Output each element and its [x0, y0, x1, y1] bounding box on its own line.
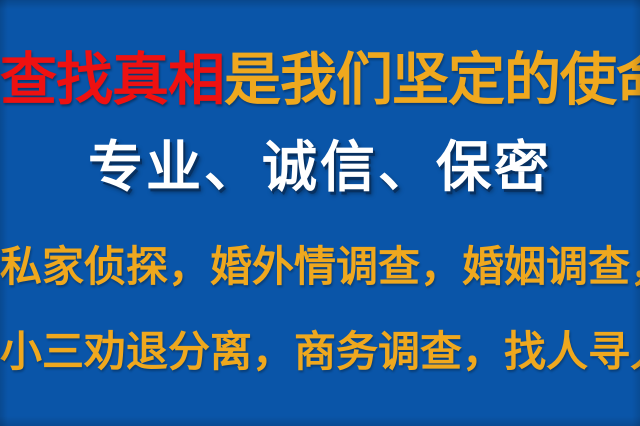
headline-rest-text: 是我们坚定的使命	[224, 47, 640, 113]
values-tagline: 专业、诚信、保密	[0, 140, 640, 195]
headline: 查找真相是我们坚定的使命	[0, 52, 640, 109]
advertisement-banner: 查找真相是我们坚定的使命 专业、诚信、保密 私家侦探，婚外情调查，婚姻调查， 小…	[0, 0, 640, 426]
services-line-2: 小三劝退分离，商务调查，找人寻人	[0, 331, 640, 373]
headline-emphasis-text: 查找真相	[0, 47, 224, 113]
services-line-1: 私家侦探，婚外情调查，婚姻调查，	[0, 246, 640, 288]
